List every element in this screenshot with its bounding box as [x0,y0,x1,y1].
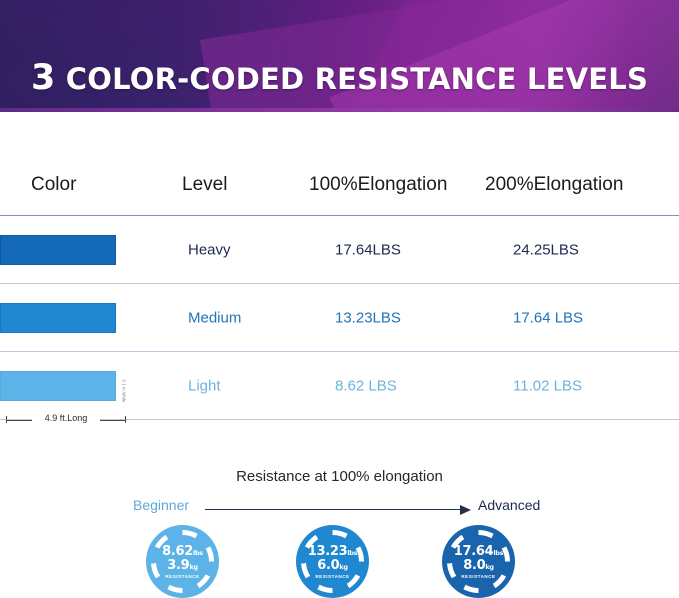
badge-kg: 3.9kg [167,559,198,572]
column-header-color: Color [31,174,76,196]
dimension-cap-left [6,416,7,423]
scale-label-advanced: Advanced [478,497,540,513]
badge-caption: RESISTANCE [315,574,349,579]
table-row: Medium 13.23LBS 17.64 LBS [0,284,679,351]
badge-inner: 17.64lbs 8.0kg RESISTANCE [452,535,505,588]
cell-elongation-100: 8.62 LBS [335,377,397,394]
badge-kg-value: 3.9 [167,558,189,573]
scale-arrow-icon [205,505,471,515]
resistance-badge-light: 8.62lbs 3.9kg RESISTANCE [146,525,219,598]
badge-lbs: 8.62lbs [162,545,203,558]
badge-lbs: 13.23lbs [308,545,357,558]
cell-elongation-100: 17.64LBS [335,241,401,258]
table-header-row: Color Level 100%Elongation 200%Elongatio… [0,112,679,215]
badge-lbs-value: 17.64 [454,544,494,559]
badge-inner: 13.23lbs 6.0kg RESISTANCE [306,535,359,588]
badge-inner: 8.62lbs 3.9kg RESISTANCE [156,535,209,588]
badge-kg-unit: kg [189,563,197,571]
page-title: 3 COLOR-CODED RESISTANCE LEVELS [0,58,679,98]
title-number: 3 [31,58,56,98]
badge-kg-unit: kg [485,563,493,571]
width-dimension-label: 6.1 in.Wide [118,369,130,403]
badge-lbs: 17.64lbs [454,545,503,558]
badge-kg-unit: kg [339,563,347,571]
cell-elongation-100: 13.23LBS [335,309,401,326]
color-swatch-heavy [0,235,116,265]
badge-caption: RESISTANCE [461,574,495,579]
badge-lbs-unit: lbs [493,549,503,557]
dimension-cap-right [125,416,126,423]
badge-kg: 6.0kg [317,559,348,572]
column-header-elongation-100: 100%Elongation [309,174,447,196]
resistance-badges: 8.62lbs 3.9kg RESISTANCE 13.23lbs 6.0kg … [0,525,679,598]
resistance-table: Color Level 100%Elongation 200%Elongatio… [0,112,679,420]
cell-level: Medium [188,309,241,326]
resistance-badge-heavy: 17.64lbs 8.0kg RESISTANCE [442,525,515,598]
length-dimension-label: 4.9 ft.Long [2,413,130,427]
width-dimension-text: 6.1 in.Wide [122,379,127,391]
table-row: 6.1 in.Wide 4.9 ft.Long Light 8.62 LBS 1… [0,352,679,419]
badge-lbs-unit: lbs [347,549,357,557]
resistance-scale: Resistance at 100% elongation Beginner A… [0,455,679,598]
color-swatch-medium [0,303,116,333]
resistance-badge-medium: 13.23lbs 6.0kg RESISTANCE [296,525,369,598]
badge-lbs-value: 13.23 [308,544,348,559]
cell-elongation-200: 17.64 LBS [513,309,583,326]
cell-level: Heavy [188,241,231,258]
badge-kg-value: 6.0 [317,558,339,573]
badge-kg: 8.0kg [463,559,494,572]
cell-level: Light [188,377,221,394]
column-header-elongation-200: 200%Elongation [485,174,623,196]
header-banner: 3 COLOR-CODED RESISTANCE LEVELS [0,0,679,112]
badge-lbs-unit: lbs [193,549,203,557]
badge-lbs-value: 8.62 [162,544,193,559]
table-row: Heavy 17.64LBS 24.25LBS [0,216,679,283]
title-text: COLOR-CODED RESISTANCE LEVELS [56,62,649,96]
badge-kg-value: 8.0 [463,558,485,573]
scale-title: Resistance at 100% elongation [0,468,679,485]
scale-label-beginner: Beginner [133,497,189,513]
color-swatch-light [0,371,116,401]
cell-elongation-200: 24.25LBS [513,241,579,258]
arrow-head [460,505,471,515]
infographic-page: 3 COLOR-CODED RESISTANCE LEVELS Color Le… [0,0,679,598]
cell-elongation-200: 11.02 LBS [513,377,582,394]
column-header-level: Level [182,174,227,196]
length-dimension-text: 4.9 ft.Long [32,413,100,423]
arrow-line [205,509,463,510]
badge-caption: RESISTANCE [165,574,199,579]
